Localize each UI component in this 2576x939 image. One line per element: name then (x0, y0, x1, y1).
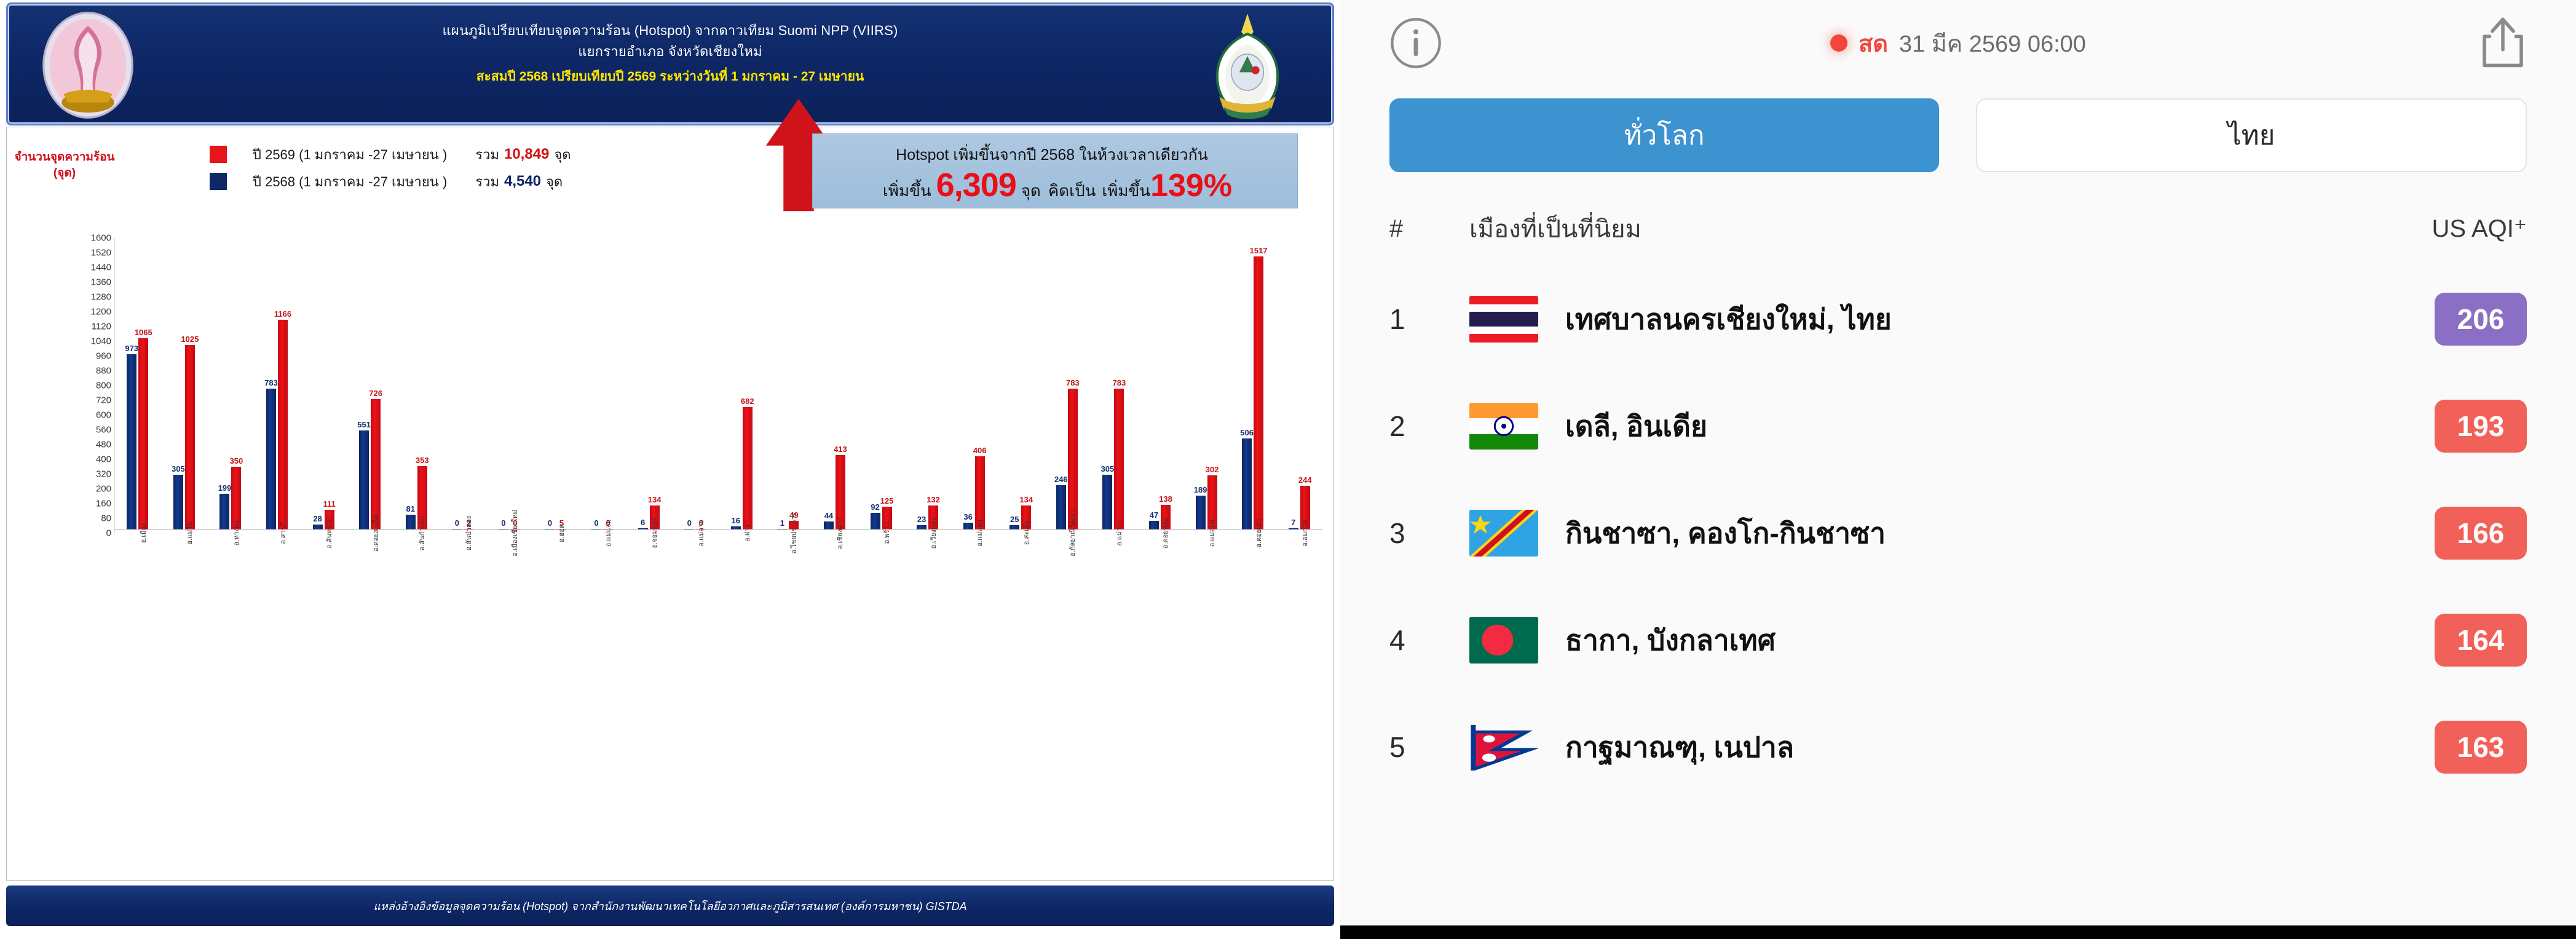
x-axis-label: อ.ไชยปราการ (788, 513, 799, 554)
row-aqi-wrap: 164 (2342, 614, 2527, 667)
bar-blue: 36 (963, 523, 973, 529)
bar-red: 783 (1068, 389, 1078, 529)
bar-blue: 551 (359, 430, 369, 529)
chiang-mai-provincial-emblem (1197, 9, 1298, 121)
bar-group: 305783อ.แม่วาง (1090, 389, 1137, 529)
bar-blue: 305 (173, 475, 183, 529)
callout-increase-percent: 139% (1150, 170, 1232, 202)
row-rank: 2 (1389, 410, 1469, 443)
bar-blue: 783 (266, 389, 276, 529)
aqi-badge: 193 (2435, 400, 2527, 453)
tab-global[interactable]: ทั่วโลก (1389, 98, 1939, 172)
legend-item-2569: ปี 2569 (1 มกราคม -27 เมษายน ) รวม 10,84… (210, 141, 571, 168)
bar-group: 47138อ.ดอยหล่อ (1137, 505, 1183, 529)
footer-source-text: แหล่งอ้างอิงข้อมูลจุดความร้อน (Hotspot) … (373, 897, 966, 915)
poster-title-line-1: แผนภูมิเปรียบเทียบจุดความร้อน (Hotspot) … (8, 20, 1332, 41)
live-timestamp: 31 มีค 2569 06:00 (1899, 25, 2086, 62)
y-axis-tick: 200 (50, 484, 111, 494)
bar-value-label: 506 (1240, 428, 1254, 437)
y-axis-tick: 1040 (50, 336, 111, 347)
y-axis-tick: 320 (50, 469, 111, 480)
bar-value-label: 0 (455, 518, 459, 528)
bar-value-label: 138 (1159, 494, 1172, 504)
table-row[interactable]: 5กาฐมาณฑุ, เนปาล163 (1340, 694, 2576, 801)
callout-prefix: เพิ่มขึ้น (883, 178, 931, 204)
bar-value-label: 81 (406, 504, 415, 513)
x-axis-label: อ.สันทราย (323, 518, 334, 549)
bar-group: 149อ.ไชยปราการ (765, 521, 812, 529)
home-indicator-bar (1340, 925, 2576, 939)
table-row[interactable]: 1เทศบาลนครเชียงใหม่, ไทย206 (1340, 266, 2576, 373)
increase-callout: Hotspot เพิ่มขึ้นจากปี 2568 ในห้วงเวลาเด… (812, 133, 1298, 208)
y-axis-tick: 1600 (50, 233, 111, 244)
legend-item-2568: ปี 2568 (1 มกราคม -27 เมษายน ) รวม 4,540… (210, 168, 571, 195)
bar-value-label: 1 (780, 518, 784, 528)
bar-value-label: 783 (1113, 378, 1126, 387)
bar-value-label: 244 (1298, 475, 1312, 485)
row-aqi-wrap: 166 (2342, 507, 2527, 560)
bar-value-label: 134 (648, 495, 662, 504)
y-axis-tick: 1520 (50, 248, 111, 258)
legend-total-word-2: รวม (475, 171, 499, 192)
bar-group: 36406อ.แม่แตง (950, 456, 997, 529)
bar-value-label: 36 (963, 512, 972, 521)
column-header-aqi: US AQI⁺ (2342, 215, 2527, 243)
bar-value-label: 1065 (135, 328, 152, 337)
bar-group: 05อ.ฮอด (532, 529, 579, 529)
bar-blue: 246 (1056, 485, 1066, 529)
bar-group: 28111อ.สันทราย (300, 510, 347, 529)
y-axis-tick: 0 (50, 528, 111, 539)
bar-value-label: 973 (125, 344, 138, 353)
bar-blue: 92 (871, 513, 880, 529)
callout-line-2: เพิ่มขึ้น 6,309 จุด คิดเป็น เพิ่มขึ้น 13… (821, 168, 1294, 204)
bar-value-label: 28 (313, 514, 322, 523)
row-city-name: เทศบาลนครเชียงใหม่, ไทย (1565, 297, 2342, 342)
legend-total-word-1: รวม (475, 144, 499, 165)
y-axis-tick: 800 (50, 381, 111, 391)
x-axis-label: อ.สันกำแพง (416, 516, 427, 550)
bar-group: 9731065อ.เมือง (114, 338, 161, 530)
chart-frame: ปี 2569 (1 มกราคม -27 เมษายน ) รวม 10,84… (6, 127, 1334, 881)
bar-group: 16682อ.ฝาง (719, 407, 765, 529)
callout-mid2: เพิ่มขึ้น (1102, 178, 1150, 204)
bar-value-label: 16 (732, 516, 740, 525)
callout-line-1: Hotspot เพิ่มขึ้นจากปี 2568 ในห้วงเวลาเด… (813, 143, 1291, 167)
bar-value-label: 305 (1101, 464, 1115, 473)
bar-blue: 199 (219, 494, 229, 529)
row-rank: 3 (1389, 517, 1469, 550)
bar-group: 00อ.แม่อาย (672, 529, 719, 529)
bar-group: 92125อ.พร้าว (858, 507, 904, 529)
chart-legend: ปี 2569 (1 มกราคม -27 เมษายน ) รวม 10,84… (210, 141, 571, 195)
ranking-table-header: # เมืองที่เป็นที่นิยม US AQI⁺ (1340, 172, 2576, 266)
ranking-table-body: 1เทศบาลนครเชียงใหม่, ไทย2062เดลี, อินเดี… (1340, 266, 2576, 801)
legend-swatch-blue (210, 173, 227, 190)
bar-value-label: 44 (824, 511, 833, 520)
bar-blue: 305 (1102, 475, 1112, 529)
bar-value-label: 350 (230, 456, 243, 466)
bar-value-label: 1517 (1250, 246, 1268, 255)
x-axis-label: อ.แม่ออน (1206, 520, 1217, 547)
bar-value-label: 47 (1150, 510, 1158, 520)
bar-value-label: 246 (1054, 475, 1068, 484)
bar-blue: 44 (824, 521, 834, 529)
bar-blue: 0 (684, 529, 694, 529)
table-row[interactable]: 2เดลี, อินเดีย193 (1340, 373, 2576, 480)
flag-dr-congo-icon (1469, 510, 1538, 557)
bar-group: 7244อ.อมก๋อย (1276, 486, 1322, 529)
row-aqi-wrap: 193 (2342, 400, 2527, 453)
y-axis-tick: 880 (50, 366, 111, 376)
legend-label-2568: ปี 2568 (1 มกราคม -27 เมษายน ) (253, 171, 447, 192)
column-header-rank: # (1389, 215, 1469, 243)
bar-value-label: 1166 (274, 309, 291, 319)
bar-blue: 28 (313, 525, 323, 529)
poster-header-banner: แผนภูมิเปรียบเทียบจุดความร้อน (Hotspot) … (6, 2, 1334, 125)
bar-red: 726 (371, 399, 381, 529)
bar-blue: 506 (1242, 438, 1252, 529)
column-header-city: เมืองที่เป็นที่นิยม (1469, 209, 2342, 248)
y-axis-tick: 480 (50, 440, 111, 450)
legend-unit-1: จุด (554, 144, 571, 165)
bar-value-label: 199 (218, 483, 232, 493)
x-axis-label: อ.สารภี (277, 522, 288, 544)
bar-blue: 0 (591, 529, 601, 529)
legend-total-2568: 4,540 (504, 173, 541, 190)
bar-value-label: 783 (264, 378, 278, 387)
bar-blue: 81 (406, 515, 416, 529)
bar-blue: 973 (127, 354, 136, 529)
x-axis-label: อ.หางดง (231, 521, 242, 546)
legend-unit-2: จุด (546, 171, 563, 192)
bar-red: 1065 (138, 338, 148, 530)
x-axis-label: อ.แม่วาง (1113, 520, 1124, 546)
x-axis-label: อ.แม่แตง (974, 520, 985, 547)
live-status-block: สด 31 มีค 2569 06:00 (1340, 25, 2576, 62)
y-axis-tick: 1360 (50, 277, 111, 288)
plot-area: 9731065อ.เมือง3051025อ.แม่ริม199350อ.หาง… (114, 242, 1322, 529)
x-axis-label: อ.เมือง (138, 523, 149, 544)
bar-blue: 0 (499, 529, 508, 529)
table-row[interactable]: 3กินชาซา, คองโก-กินชาซา166 (1340, 480, 2576, 587)
bar-group: 5061517อ.ดอยเต่า (1230, 256, 1276, 529)
bar-blue: 16 (731, 526, 741, 529)
y-axis-tick: 560 (50, 425, 111, 435)
bar-red: 1517 (1254, 256, 1263, 529)
bar-group: 00อ.เมืองเชียงใหม่ (486, 529, 533, 529)
y-axis-tick: 1280 (50, 292, 111, 303)
bar-blue: 23 (917, 525, 926, 529)
bar-red: 1025 (185, 345, 195, 529)
bar-value-label: 353 (416, 456, 429, 465)
x-axis-label: อ.เมืองเชียงใหม่ (509, 510, 520, 557)
callout-mid: คิดเป็น (1048, 178, 1096, 204)
bar-group: 44413อ.เชียงดาว (812, 455, 858, 529)
row-aqi-wrap: 206 (2342, 293, 2527, 346)
bar-value-label: 0 (501, 518, 505, 528)
x-axis-label: อ.จอมทอง (649, 518, 660, 548)
y-axis-tick: 1200 (50, 307, 111, 317)
row-city-name: เดลี, อินเดีย (1565, 404, 2342, 449)
x-axis-label: อ.เวียงแหง (928, 517, 939, 549)
bar-group: 551726อ.ดอยสะเก็ด (347, 399, 393, 529)
y-axis-tick: 160 (50, 499, 111, 509)
x-axis-label: อ.พร้าว (881, 522, 892, 544)
bar-group: 00อ.แม่แจ่ม (579, 529, 626, 529)
flag-nepal-icon (1469, 724, 1538, 771)
bar-value-label: 6 (641, 518, 645, 527)
row-city-name: กินชาซา, คองโก-กินชาซา (1565, 511, 2342, 556)
flag-india-icon (1469, 403, 1538, 450)
bar-value-label: 189 (1194, 485, 1207, 494)
y-axis-tick: 960 (50, 351, 111, 362)
x-axis-label: อ.แม่อาย (695, 520, 706, 546)
x-axis-label: อ.ดอยเต่า (1253, 519, 1264, 548)
aqi-ranking-app: สด 31 มีค 2569 06:00 ทั่วโลก ไทย # เมือง… (1340, 0, 2576, 939)
bar-red: 406 (975, 456, 985, 529)
bar-blue: 1 (777, 529, 787, 529)
x-axis-label: อ.สันป่าตอง (463, 516, 474, 550)
y-axis-tick: 80 (50, 513, 111, 524)
poster-footer-banner: แหล่งอ้างอิงข้อมูลจุดความร้อน (Hotspot) … (6, 886, 1334, 926)
x-axis-label: อ.ดอยหล่อ (1160, 518, 1171, 549)
poster-title-block: แผนภูมิเปรียบเทียบจุดความร้อน (Hotspot) … (8, 20, 1332, 87)
bar-value-label: 406 (973, 446, 987, 455)
row-rank: 4 (1389, 624, 1469, 657)
row-city-name: กาฐมาณฑุ, เนปาล (1565, 725, 2342, 770)
bar-value-label: 134 (1019, 495, 1033, 504)
bar-group: 25134อ.สะเมิง (997, 505, 1044, 529)
aqi-badge: 206 (2435, 293, 2527, 346)
bar-group: 02อ.สันป่าตอง (440, 529, 486, 529)
bar-blue: 0 (452, 529, 462, 529)
bar-value-label: 783 (1066, 378, 1080, 387)
y-axis-tick: 1120 (50, 322, 111, 332)
legend-label-2569: ปี 2569 (1 มกราคม -27 เมษายน ) (253, 144, 447, 165)
row-rank: 5 (1389, 731, 1469, 764)
callout-increase-points: 6,309 (936, 168, 1016, 202)
row-aqi-wrap: 163 (2342, 721, 2527, 774)
bar-value-label: 0 (687, 518, 692, 528)
aqi-badge: 164 (2435, 614, 2527, 667)
x-axis-label: อ.แม่ริม (184, 521, 195, 544)
y-axis-tick: 1440 (50, 263, 111, 273)
tab-thailand[interactable]: ไทย (1976, 98, 2527, 172)
bar-value-label: 551 (357, 420, 371, 429)
bar-blue: 6 (638, 528, 648, 529)
y-axis-title-line-2: (จุด) (9, 165, 120, 181)
bar-group: 199350อ.หางดง (207, 467, 254, 529)
x-axis-label: อ.ดอยสะเก็ด (370, 515, 381, 552)
flag-thailand-icon (1469, 296, 1538, 343)
flag-bangladesh-icon (1469, 617, 1538, 664)
bar-value-label: 0 (594, 518, 598, 528)
bar-value-label: 25 (1010, 515, 1019, 524)
aqi-badge: 166 (2435, 507, 2527, 560)
poster-title-line-2: แยกรายอำเภอ จังหวัดเชียงใหม่ (8, 41, 1332, 62)
bar-value-label: 726 (369, 389, 382, 398)
poster-title-line-3: สะสมปี 2568 เปรียบเทียบปี 2569 ระหว่างวั… (8, 67, 1332, 87)
bar-blue: 47 (1149, 521, 1159, 529)
bar-red: 1166 (278, 320, 288, 529)
bar-red: 682 (743, 407, 753, 529)
callout-unit: จุด (1021, 178, 1041, 204)
bar-value-label: 1025 (181, 335, 199, 344)
x-axis-label: อ.กัลยาณิวัฒนา (1067, 510, 1078, 557)
live-label: สด (1859, 25, 1888, 62)
row-city-name: ธากา, บังกลาเทศ (1565, 618, 2342, 663)
x-axis-label: อ.สะเมิง (1021, 521, 1032, 545)
x-axis-label: อ.ฮอด (556, 524, 567, 542)
bar-value-label: 305 (172, 464, 185, 473)
table-row[interactable]: 4ธากา, บังกลาเทศ164 (1340, 587, 2576, 694)
bar-group: 246783อ.กัลยาณิวัฒนา (1044, 389, 1091, 529)
bar-group: 7831166อ.สารภี (254, 320, 301, 529)
bar-value-label: 132 (926, 495, 940, 504)
bar-group: 6134อ.จอมทอง (625, 505, 672, 529)
y-axis-tick: 600 (50, 410, 111, 421)
bar-value-label: 7 (1291, 518, 1295, 527)
y-axis-tick: 720 (50, 395, 111, 406)
bar-value-label: 92 (871, 502, 879, 512)
x-axis-label: อ.ฝาง (741, 525, 753, 542)
bar-blue: 7 (1289, 528, 1298, 529)
bar-value-label: 302 (1206, 465, 1219, 474)
bar-group: 23132อ.เวียงแหง (904, 505, 951, 529)
legend-total-2569: 10,849 (504, 146, 549, 163)
bar-value-label: 682 (741, 397, 754, 406)
live-indicator-dot (1830, 34, 1847, 52)
x-axis-label: อ.แม่แจ่ม (603, 520, 614, 547)
x-axis-label: อ.เชียงดาว (834, 517, 845, 549)
bar-value-label: 23 (917, 515, 926, 524)
y-axis-ticks: 0801602003204004805606007208008809601040… (50, 238, 111, 533)
bar-group: 81353อ.สันกำแพง (393, 466, 440, 529)
bar-value-label: 413 (834, 445, 847, 454)
bar-blue: 189 (1196, 496, 1206, 529)
bar-value-label: 0 (548, 518, 552, 528)
bar-blue: 25 (1009, 525, 1019, 529)
hotspot-chart-poster: แผนภูมิเปรียบเทียบจุดความร้อน (Hotspot) … (0, 0, 1340, 939)
legend-swatch-red (210, 146, 227, 163)
y-axis-title: จำนวนจุดความร้อน (จุด) (9, 149, 120, 181)
row-rank: 1 (1389, 303, 1469, 336)
x-axis-label: อ.อมก๋อย (1299, 520, 1310, 546)
bar-value-label: 125 (880, 496, 894, 505)
y-axis-tick: 400 (50, 454, 111, 465)
bar-blue: 0 (545, 529, 555, 529)
app-status-bar: สด 31 มีค 2569 06:00 (1340, 0, 2576, 86)
scope-tabs: ทั่วโลก ไทย (1340, 86, 2576, 172)
bar-group: 189302อ.แม่ออน (1183, 475, 1230, 529)
y-axis-title-line-1: จำนวนจุดความร้อน (9, 149, 120, 165)
bar-group: 3051025อ.แม่ริม (161, 345, 208, 529)
bar-value-label: 111 (323, 499, 335, 509)
bar-red: 783 (1114, 389, 1124, 529)
aqi-badge: 163 (2435, 721, 2527, 774)
